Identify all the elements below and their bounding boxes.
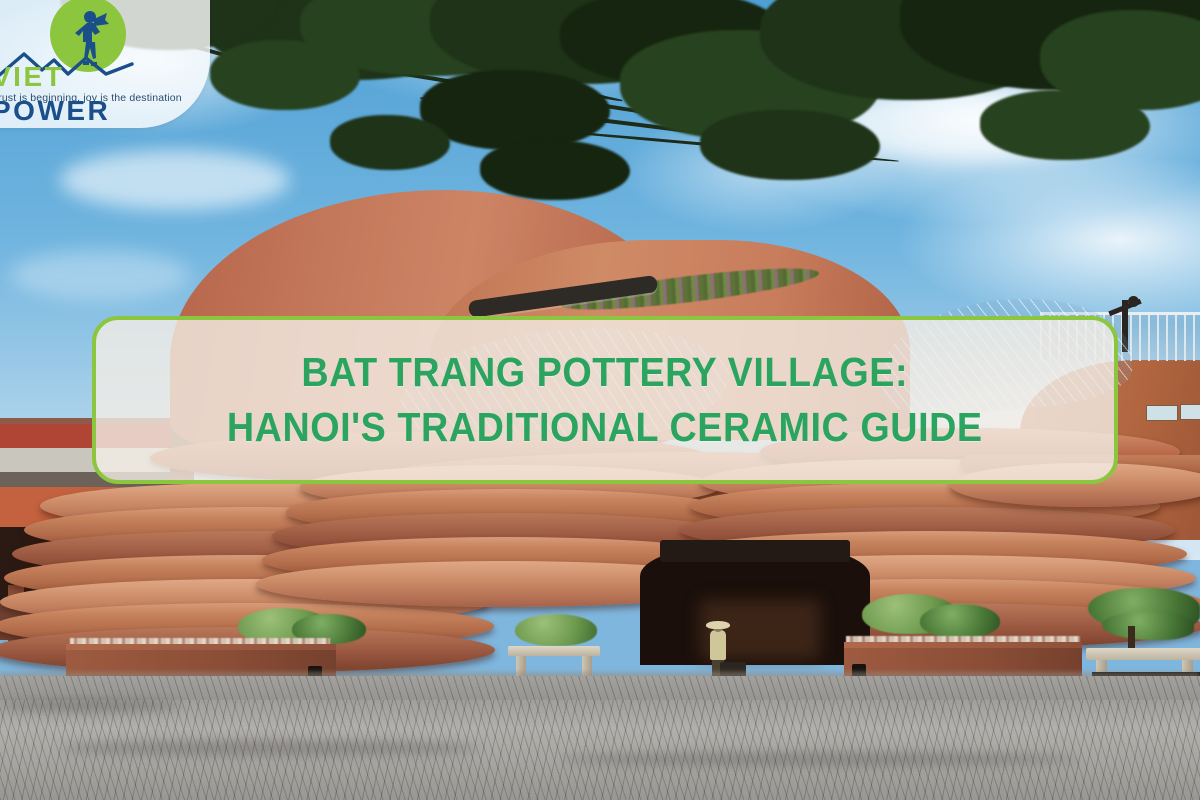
title-banner: BAT TRANG POTTERY VILLAGE: HANOI'S TRADI… [92,316,1118,484]
plaza-shadow [60,740,480,756]
logo-tagline: Trust is beginning, joy is the destinati… [0,92,197,104]
title-line-1: BAT TRANG POTTERY VILLAGE: [302,345,909,400]
person-body [710,630,726,660]
cloud-wisp [10,250,190,300]
conical-hat-icon [706,621,730,629]
right-window-slot [1180,404,1200,420]
planter-shrub [515,614,597,646]
stone-pedestal-top [1086,648,1200,660]
cloud-wisp [60,150,290,210]
right-window-slot [1146,405,1178,421]
sculpture-head [1128,296,1139,307]
logo-word-viet: VIET [0,61,64,92]
hero-banner-image: VIET POWER Trust is beginning, joy is th… [0,0,1200,800]
planter-shrub [920,604,1000,638]
entrance-upper-slot [660,540,850,562]
title-line-2: HANOI'S TRADITIONAL CERAMIC GUIDE [227,400,983,455]
cloud-wisp [820,90,1120,160]
logo-wordmark: VIET POWER [0,60,192,94]
plaza-shadow [0,700,180,712]
plaza-shadow [560,752,1080,766]
logo-panel[interactable]: VIET POWER Trust is beginning, joy is th… [0,0,210,128]
stone-pedestal-top [508,646,600,656]
